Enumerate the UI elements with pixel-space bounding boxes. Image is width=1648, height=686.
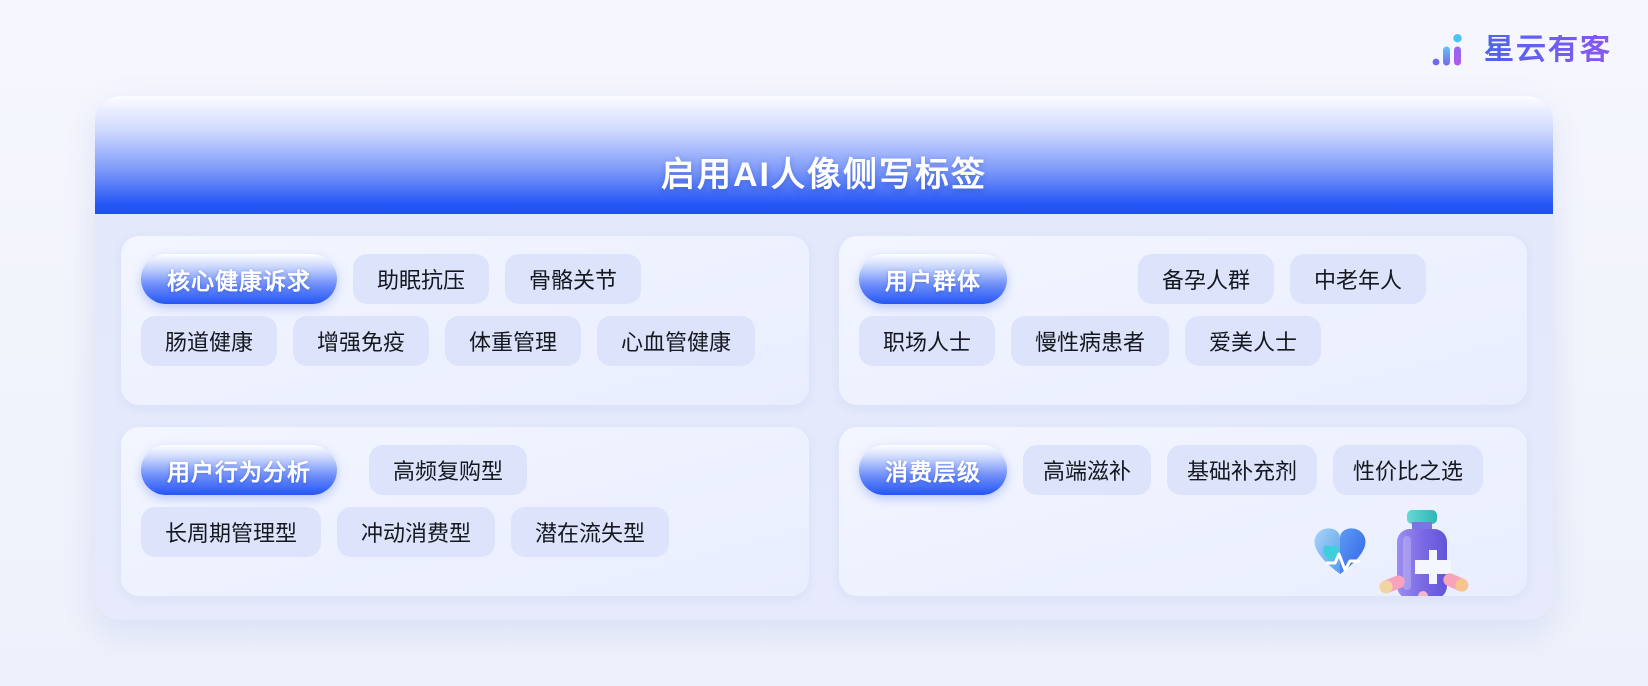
panel-row: 核心健康诉求 助眠抗压 骨骼关节 [141,254,789,304]
card-header: 启用AI人像侧写标签 [95,96,1553,214]
panel-consumption-tier: 消费层级 高端滋补 基础补充剂 性价比之选 [839,427,1527,596]
tag-chip[interactable]: 心血管健康 [597,316,755,366]
page-title: 启用AI人像侧写标签 [661,147,987,196]
tag-chip[interactable]: 高端滋补 [1023,445,1151,495]
slide-root: 星云有客 启用AI人像侧写标签 核心健康诉求 助眠抗压 骨骼关节 肠道健康 增强… [0,0,1648,686]
panel-core-health-needs: 核心健康诉求 助眠抗压 骨骼关节 肠道健康 增强免疫 体重管理 心血管健康 [121,236,809,405]
tag-chip[interactable]: 助眠抗压 [353,254,489,304]
panel-user-groups: 用户群体 备孕人群 中老年人 职场人士 慢性病患者 爱美人士 [839,236,1527,405]
nebula-dots-icon [1432,33,1472,67]
tag-chip[interactable]: 肠道健康 [141,316,277,366]
tag-chip[interactable]: 潜在流失型 [511,507,669,557]
category-pill[interactable]: 消费层级 [859,445,1007,495]
category-pill[interactable]: 用户群体 [859,254,1007,304]
panel-row: 用户行为分析 高频复购型 [141,445,789,495]
panel-row: 职场人士 慢性病患者 爱美人士 [859,316,1507,366]
tag-chip[interactable]: 慢性病患者 [1011,316,1169,366]
panel-row: 肠道健康 增强免疫 体重管理 心血管健康 [141,316,789,366]
brand-name: 星云有客 [1484,35,1612,65]
tag-chip[interactable]: 性价比之选 [1333,445,1483,495]
tag-chip[interactable]: 中老年人 [1290,254,1426,304]
tag-chip[interactable]: 骨骼关节 [505,254,641,304]
panel-row: 用户群体 备孕人群 中老年人 [859,254,1507,304]
main-card: 启用AI人像侧写标签 核心健康诉求 助眠抗压 骨骼关节 肠道健康 增强免疫 体重… [95,96,1553,620]
panel-row: 长周期管理型 冲动消费型 潜在流失型 [141,507,789,557]
tag-chip[interactable]: 增强免疫 [293,316,429,366]
tag-chip[interactable]: 备孕人群 [1138,254,1274,304]
tag-chip[interactable]: 体重管理 [445,316,581,366]
tag-chip[interactable]: 爱美人士 [1185,316,1321,366]
category-pill[interactable]: 核心健康诉求 [141,254,337,304]
category-pill[interactable]: 用户行为分析 [141,445,337,495]
brand-logo: 星云有客 [1432,33,1612,67]
tag-chip[interactable]: 基础补充剂 [1167,445,1317,495]
tag-chip[interactable]: 长周期管理型 [141,507,321,557]
tag-chip[interactable]: 冲动消费型 [337,507,495,557]
panel-grid: 核心健康诉求 助眠抗压 骨骼关节 肠道健康 增强免疫 体重管理 心血管健康 [95,214,1553,620]
tag-chip[interactable]: 职场人士 [859,316,995,366]
heart-pulse-and-medicine-bottle-icon [1305,504,1469,596]
tag-chip[interactable]: 高频复购型 [369,445,527,495]
panel-user-behavior-analysis: 用户行为分析 高频复购型 长周期管理型 冲动消费型 潜在流失型 [121,427,809,596]
panel-row: 消费层级 高端滋补 基础补充剂 性价比之选 [859,445,1507,495]
